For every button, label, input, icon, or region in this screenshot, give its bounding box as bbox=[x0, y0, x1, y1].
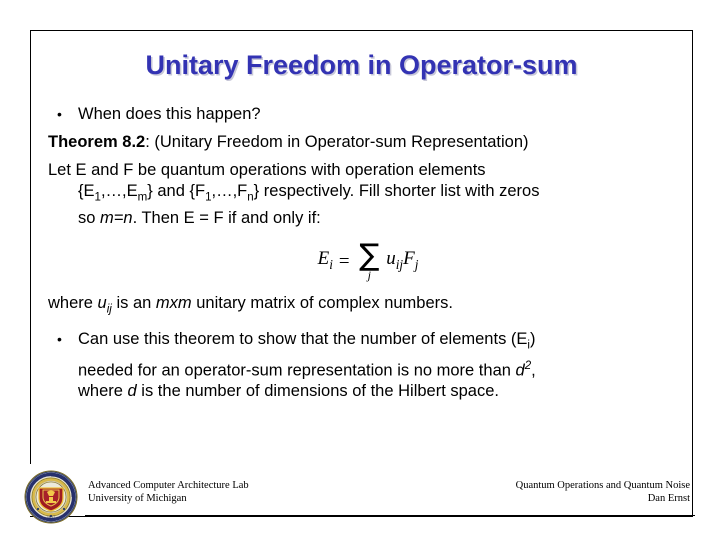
equation-f-var: F bbox=[403, 248, 415, 269]
bullet-item-element-count: • Can use this theorem to show that the … bbox=[48, 329, 678, 403]
theorem-heading: Theorem 8.2: (Unitary Freedom in Operato… bbox=[48, 132, 678, 153]
statement-line-3-pre: so bbox=[78, 209, 100, 227]
bullet-glyph-icon: • bbox=[57, 104, 62, 125]
bullet2-d-var-2: d bbox=[128, 382, 137, 400]
equation-block: Ei = ∑ j uijFj bbox=[48, 243, 678, 280]
where-u-var: u bbox=[98, 294, 107, 312]
equation-lhs-var: E bbox=[318, 248, 330, 269]
where-dimensions: mxm bbox=[156, 294, 192, 312]
operator-sum-equation: Ei = ∑ j uijFj bbox=[318, 243, 419, 280]
statement-line-3-post: . Then E = F if and only if: bbox=[133, 209, 321, 227]
equation-lhs: Ei bbox=[318, 248, 333, 269]
bullet-text: When does this happen? bbox=[78, 105, 261, 123]
equation-u-var: u bbox=[386, 248, 396, 269]
theorem-title: : (Unitary Freedom in Operator-sum Repre… bbox=[145, 133, 528, 151]
statement-line-2: {E1,…,Em} and {F1,…,Fn} respectively. Fi… bbox=[48, 181, 678, 208]
bullet2-line1-pre: Can use this theorem to show that the nu… bbox=[78, 330, 527, 348]
bullet-item-when-does-this-happen: • When does this happen? bbox=[48, 104, 678, 125]
set-e-open: {E bbox=[78, 182, 95, 200]
bullet-glyph-icon: • bbox=[57, 329, 62, 350]
university-of-michigan-seal-icon: 1817 bbox=[24, 470, 78, 524]
footer-author: Dan Ernst bbox=[516, 493, 690, 506]
bullet-text-line-3: where d is the number of dimensions of t… bbox=[78, 381, 678, 402]
where-post: unitary matrix of complex numbers. bbox=[192, 294, 453, 312]
set-f-mid: ,…,F bbox=[212, 182, 248, 200]
slide-title: Unitary Freedom in Operator-sum bbox=[30, 50, 693, 81]
statement-line-3: so m=n. Then E = F if and only if: bbox=[48, 208, 678, 229]
footer-talk-title: Quantum Operations and Quantum Noise bbox=[516, 480, 690, 493]
bullet2-d-var: d bbox=[516, 361, 525, 379]
slide-body: • When does this happen? Theorem 8.2: (U… bbox=[48, 104, 678, 409]
bullet-text-line-1: Can use this theorem to show that the nu… bbox=[78, 330, 535, 348]
footer-divider bbox=[85, 515, 695, 516]
equation-equals-sign: = bbox=[338, 251, 351, 272]
where-clause: where uij is an mxm unitary matrix of co… bbox=[48, 293, 678, 320]
summation-group: ∑ j bbox=[359, 243, 379, 280]
statement-m-equals-n: m=n bbox=[100, 209, 133, 227]
set-e-mid: ,…,E bbox=[101, 182, 138, 200]
footer-affiliation: Advanced Computer Architecture Lab Unive… bbox=[88, 480, 249, 505]
bullet2-line2-post: , bbox=[531, 361, 536, 379]
theorem-statement: Let E and F be quantum operations with o… bbox=[48, 160, 678, 229]
footer-presentation-info: Quantum Operations and Quantum Noise Dan… bbox=[516, 480, 690, 505]
where-mid: is an bbox=[112, 294, 156, 312]
bullet-text-line-2: needed for an operator-sum representatio… bbox=[78, 356, 678, 382]
bullet2-line2-pre: needed for an operator-sum representatio… bbox=[78, 361, 516, 379]
equation-rhs: uijFj bbox=[386, 248, 418, 269]
svg-text:1817: 1817 bbox=[47, 515, 55, 520]
statement-line-1: Let E and F be quantum operations with o… bbox=[48, 161, 486, 179]
bullet2-line3-post: is the number of dimensions of the Hilbe… bbox=[137, 382, 499, 400]
equation-u-sub: ij bbox=[396, 257, 403, 272]
footer-lab-name: Advanced Computer Architecture Lab bbox=[88, 480, 249, 493]
where-pre: where bbox=[48, 294, 98, 312]
set-f-close: } respectively. Fill shorter list with z… bbox=[254, 182, 540, 200]
bullet2-line3-pre: where bbox=[78, 382, 128, 400]
sigma-icon: ∑ bbox=[359, 243, 379, 269]
set-e-sub-m: m bbox=[138, 191, 148, 203]
set-f-open: } and {F bbox=[147, 182, 205, 200]
bullet2-line1-post: ) bbox=[530, 330, 536, 348]
equation-lhs-sub: i bbox=[329, 257, 333, 272]
footer-university-name: University of Michigan bbox=[88, 493, 249, 506]
equation-f-sub: j bbox=[415, 257, 419, 272]
theorem-label: Theorem 8.2 bbox=[48, 133, 145, 151]
